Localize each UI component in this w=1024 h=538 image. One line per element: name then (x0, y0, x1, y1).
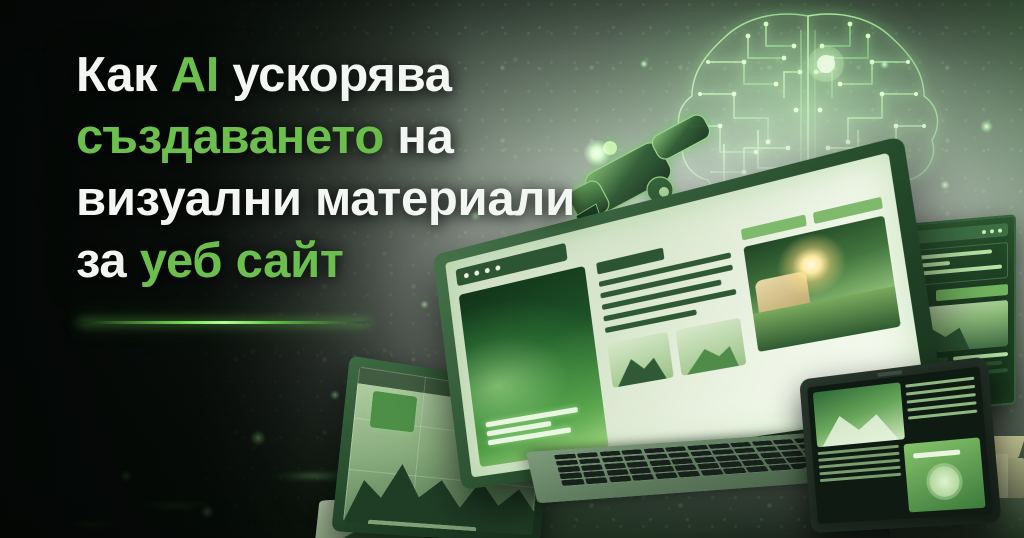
key (604, 463, 626, 469)
tablet-bezel (799, 356, 1001, 533)
page-title: Как AI ускорява създаването на визуални … (76, 44, 636, 292)
box-side (1006, 458, 1024, 498)
headline-text: Как (76, 48, 171, 102)
key (759, 452, 782, 458)
hero-banner: Как AI ускорява създаването на визуални … (0, 0, 1024, 538)
key (655, 472, 678, 479)
mockup-left-column (459, 266, 610, 467)
key (606, 469, 628, 476)
key (643, 448, 665, 454)
accent-underline (78, 321, 370, 324)
key (716, 455, 739, 461)
card-title-bar (913, 449, 960, 458)
headline-text: ускорява (219, 48, 452, 102)
key (599, 450, 621, 456)
key (562, 479, 585, 486)
key (742, 460, 765, 466)
key (734, 448, 756, 454)
key (781, 451, 804, 457)
key (629, 468, 652, 474)
key (777, 445, 800, 451)
key (585, 477, 608, 484)
tablet-top-row (813, 374, 979, 448)
key (621, 449, 643, 455)
key (626, 461, 648, 467)
tablet-text-block (818, 445, 905, 518)
key (693, 457, 716, 463)
key (746, 466, 769, 472)
key (687, 445, 709, 451)
headline-line-3: визуални материали (76, 168, 636, 230)
browser-dot-icon (990, 229, 994, 233)
headline-line-2: създаването на (76, 106, 636, 168)
hero-image-block (459, 266, 610, 467)
key (558, 466, 580, 472)
tablet-side-text (905, 374, 979, 439)
headline-text: на (384, 110, 454, 164)
headline-accent: уеб сайт (140, 234, 344, 288)
key (671, 458, 693, 464)
key (708, 443, 730, 449)
key (751, 440, 773, 446)
key (755, 446, 777, 452)
key (712, 449, 734, 455)
key (554, 453, 575, 459)
headline-text: за (76, 234, 140, 288)
key (583, 471, 605, 478)
key (652, 466, 675, 472)
landscape-photo-block (744, 215, 901, 351)
key (730, 442, 752, 448)
key (701, 469, 724, 476)
key (577, 452, 599, 458)
key (768, 464, 791, 470)
key (738, 454, 761, 460)
key (764, 458, 787, 464)
headline-accent: създаването (76, 110, 384, 164)
key (579, 458, 601, 464)
text-line (908, 409, 978, 419)
color-swatch (370, 390, 418, 432)
headline-line-4: за уеб сайт (76, 230, 636, 292)
tablet-screen (807, 367, 992, 524)
key (674, 464, 697, 470)
thumbnail-image (676, 318, 747, 376)
tablet-image-panel (813, 382, 905, 447)
card-knob-control (928, 465, 961, 498)
key (665, 446, 687, 452)
browser-dot-icon (982, 229, 986, 233)
key (646, 454, 668, 460)
headline-text: визуални материали (76, 172, 575, 226)
monitor-cta-button (936, 284, 1008, 301)
key (624, 455, 646, 461)
key (649, 460, 671, 466)
key (581, 464, 603, 470)
key (678, 471, 701, 478)
sunburst-glow (771, 225, 852, 304)
headline-line-1: Как AI ускорява (76, 44, 636, 106)
key (697, 463, 720, 469)
key (723, 468, 746, 474)
key (601, 457, 623, 463)
key (690, 451, 712, 457)
browser-dot-icon (998, 228, 1002, 232)
key (719, 461, 742, 467)
tablet-dashboard (799, 356, 1001, 533)
tablet-bottom-row (818, 438, 986, 518)
key (632, 474, 655, 481)
headline-accent-ai: AI (171, 48, 219, 102)
key (668, 452, 690, 458)
thumbnail-image (607, 332, 674, 388)
key (772, 439, 794, 445)
key (609, 476, 632, 483)
hero-caption-lines (486, 407, 582, 450)
key (560, 472, 582, 479)
key (556, 460, 578, 466)
tablet-control-card (904, 438, 986, 513)
